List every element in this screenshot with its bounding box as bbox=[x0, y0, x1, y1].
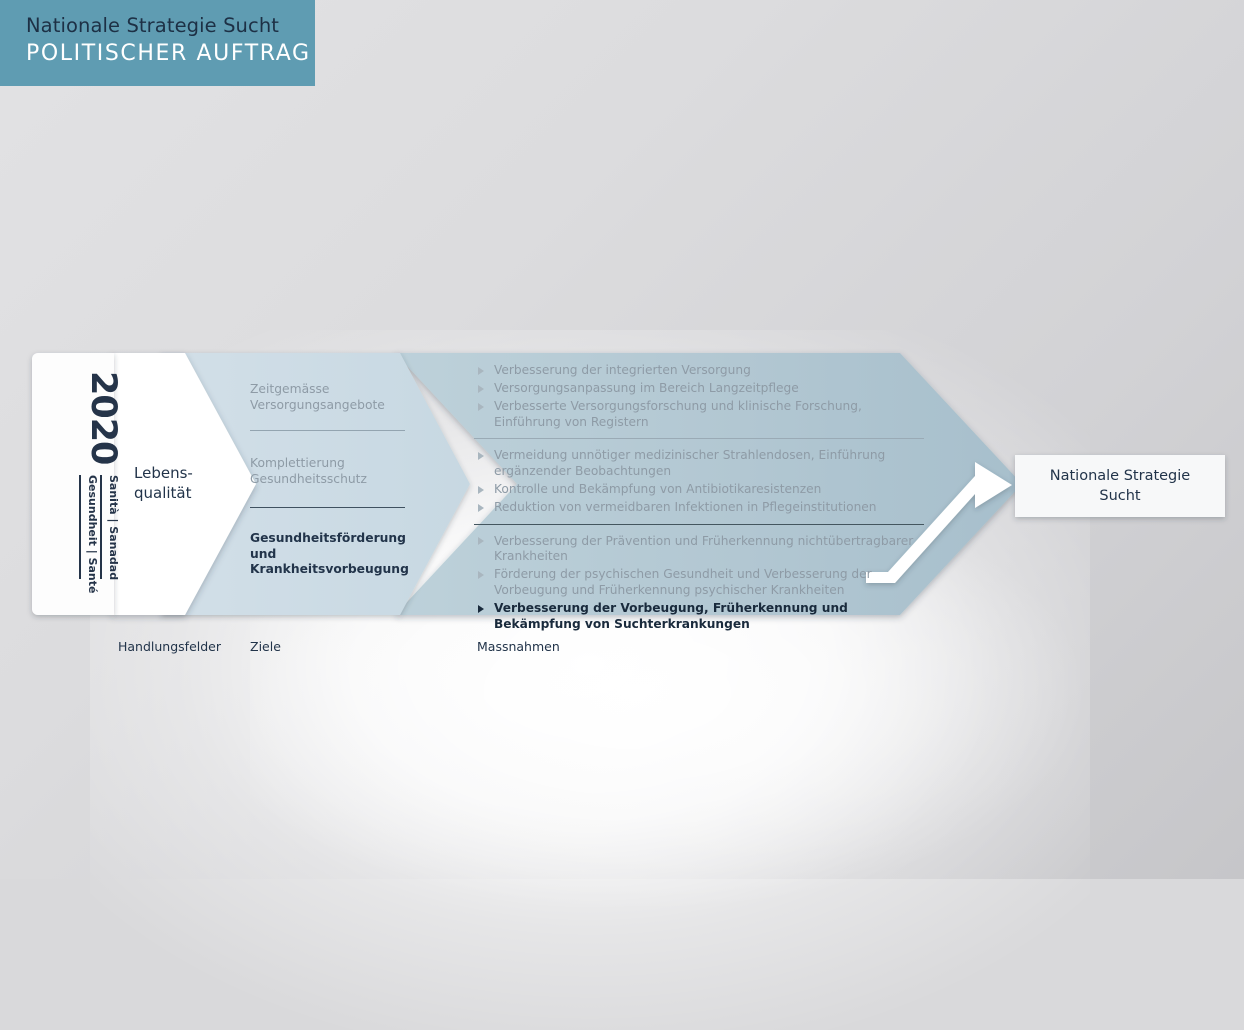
massnahme-item[interactable]: Reduktion von vermeidbaren Infektionen i… bbox=[474, 500, 924, 516]
handlungsfeld-label[interactable]: Lebens- qualität bbox=[134, 463, 244, 503]
massnahme-text: Verbesserung der Vorbeugung, Früherkennu… bbox=[494, 601, 848, 631]
final-result-text: Nationale Strategie Sucht bbox=[1050, 466, 1190, 506]
final-result-box[interactable]: Nationale Strategie Sucht bbox=[1015, 455, 1225, 517]
ziel-divider-1 bbox=[250, 507, 405, 508]
massnahme-item[interactable]: Kontrolle und Bekämpfung von Antibiotika… bbox=[474, 482, 924, 498]
triangle-bullet-icon bbox=[478, 403, 484, 411]
triangle-bullet-icon bbox=[478, 571, 484, 579]
massnahme-item[interactable]: Verbesserung der integrierten Versorgung bbox=[474, 363, 924, 379]
massnahme-item[interactable]: Verbesserung der Prävention und Früherke… bbox=[474, 534, 924, 565]
massnahmen-group-1: Vermeidung unnötiger medizinischer Strah… bbox=[474, 448, 924, 515]
ziel-1-line2: Gesundheitsschutz bbox=[250, 472, 410, 488]
final-result-line2: Sucht bbox=[1099, 488, 1140, 504]
ziel-1-line1: Komplettierung bbox=[250, 456, 410, 472]
massnahmen-group-0: Verbesserung der integrierten Versorgung… bbox=[474, 363, 924, 430]
ziel-0-line1: Zeitgemässe bbox=[250, 382, 410, 398]
massnahme-item[interactable]: Vermeidung unnötiger medizinischer Strah… bbox=[474, 448, 924, 479]
ziel-divider-0 bbox=[250, 430, 405, 431]
massnahme-item[interactable]: Verbesserung der Vorbeugung, Früherkennu… bbox=[474, 601, 924, 632]
massnahme-text: Versorgungsanpassung im Bereich Langzeit… bbox=[494, 381, 799, 395]
axis-label-ziele: Ziele bbox=[250, 639, 281, 654]
ziel-0-line2: Versorgungsangebote bbox=[250, 398, 410, 414]
massnahmen-list: Verbesserung der integrierten Versorgung… bbox=[474, 363, 924, 635]
axis-label-handlungsfelder: Handlungsfelder bbox=[118, 639, 221, 654]
logo-line-1: Gesundheit | Santé bbox=[87, 475, 98, 593]
triangle-bullet-icon bbox=[478, 504, 484, 512]
massnahmen-group-2: Verbesserung der Prävention und Früherke… bbox=[474, 534, 924, 633]
massnahme-text: Verbesserung der integrierten Versorgung bbox=[494, 363, 751, 377]
ziel-2-line2: Krankheitsvorbeugung bbox=[250, 562, 410, 578]
massnahme-text: Kontrolle und Bekämpfung von Antibiotika… bbox=[494, 482, 821, 496]
massnahme-text: Vermeidung unnötiger medizinischer Strah… bbox=[494, 448, 885, 478]
handlungsfeld-label-line1: Lebens- bbox=[134, 463, 244, 483]
ziel-item-1[interactable]: Komplettierung Gesundheitsschutz bbox=[250, 456, 410, 487]
triangle-bullet-icon bbox=[478, 537, 484, 545]
logo-year: 2020 bbox=[85, 371, 120, 464]
massnahmen-divider-2 bbox=[474, 524, 924, 525]
massnahme-text: Förderung der psychischen Gesundheit und… bbox=[494, 567, 872, 597]
triangle-bullet-icon bbox=[478, 367, 484, 375]
logo-line-2: Sanità | Sanadad bbox=[108, 475, 119, 580]
massnahme-text: Reduktion von vermeidbaren Infektionen i… bbox=[494, 500, 877, 514]
massnahme-item[interactable]: Förderung der psychischen Gesundheit und… bbox=[474, 567, 924, 598]
axis-label-massnahmen: Massnahmen bbox=[477, 639, 560, 654]
triangle-bullet-icon bbox=[478, 486, 484, 494]
ziel-2-line1: Gesundheitsförderung und bbox=[250, 531, 410, 562]
triangle-bullet-icon bbox=[478, 452, 484, 460]
handlungsfeld-label-line2: qualität bbox=[134, 483, 244, 503]
triangle-bullet-icon bbox=[478, 385, 484, 393]
massnahme-item[interactable]: Verbesserte Versorgungsforschung und kli… bbox=[474, 399, 924, 430]
ziel-item-0[interactable]: Zeitgemässe Versorgungsangebote bbox=[250, 382, 410, 413]
triangle-bullet-icon bbox=[478, 605, 484, 613]
massnahmen-divider-1 bbox=[474, 438, 924, 439]
massnahme-text: Verbesserung der Prävention und Früherke… bbox=[494, 534, 913, 564]
logo-divider-2 bbox=[79, 475, 81, 579]
final-result-line1: Nationale Strategie bbox=[1050, 468, 1190, 484]
massnahme-item[interactable]: Versorgungsanpassung im Bereich Langzeit… bbox=[474, 381, 924, 397]
bag-logo: 2020 Gesundheit | Santé Sanità | Sanadad bbox=[32, 353, 114, 615]
massnahme-text: Verbesserte Versorgungsforschung und kli… bbox=[494, 399, 862, 429]
logo-divider-1 bbox=[100, 475, 102, 579]
ziel-item-2[interactable]: Gesundheitsförderung und Krankheitsvorbe… bbox=[250, 531, 410, 578]
